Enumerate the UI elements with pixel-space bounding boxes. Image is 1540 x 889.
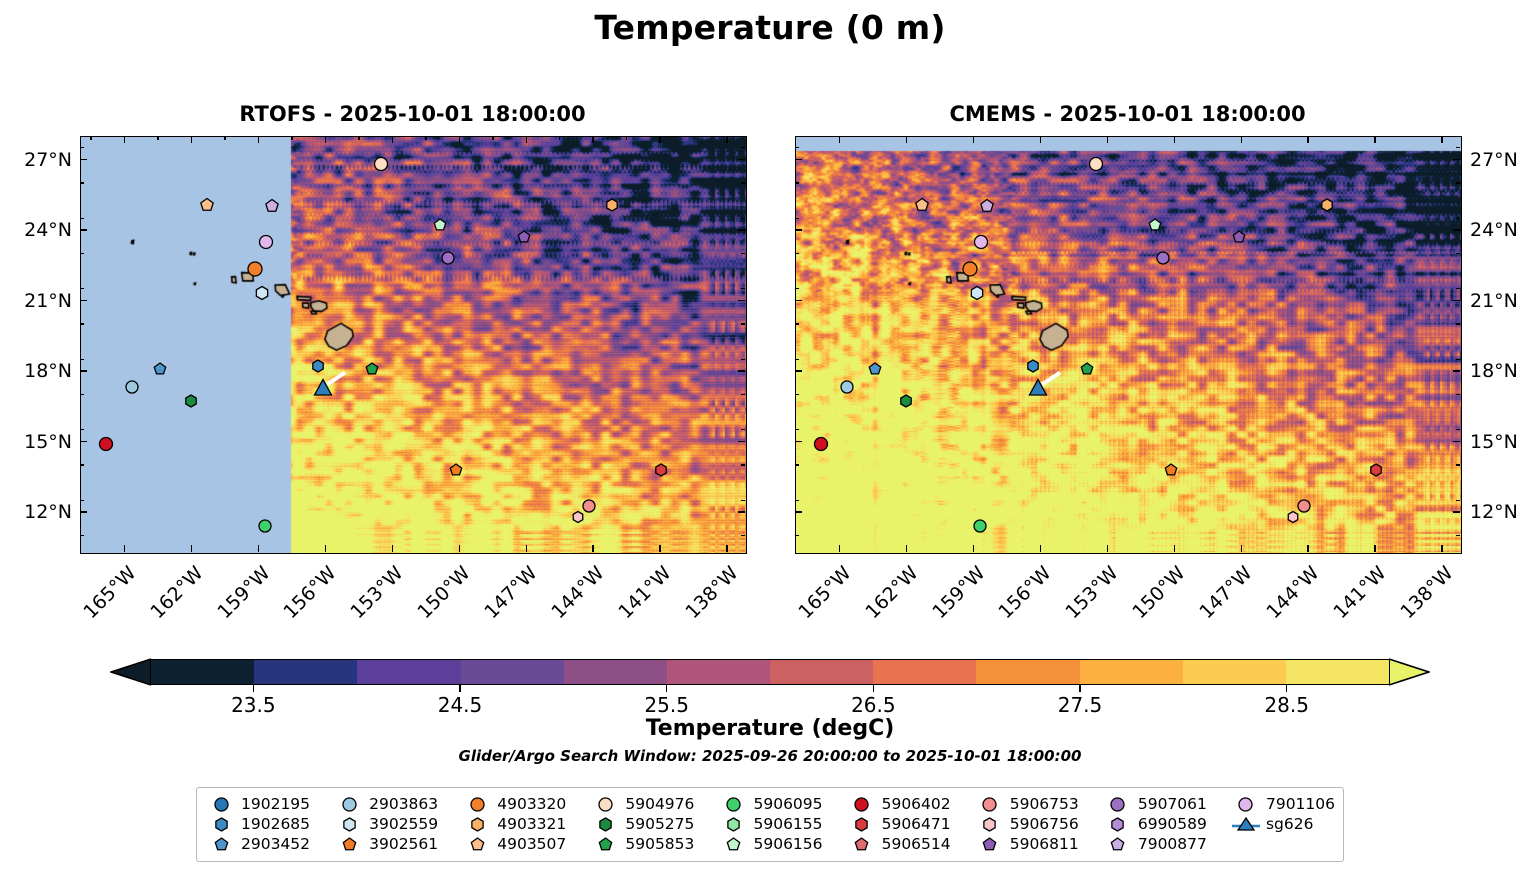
x-axis-minor-tick [492, 136, 493, 140]
y-axis-minor-tick [1456, 147, 1460, 148]
y-axis-minor-tick [741, 394, 745, 395]
legend-marker-icon [717, 834, 749, 854]
x-axis-tick [592, 545, 594, 552]
colorbar-title: Temperature (degC) [0, 716, 1540, 741]
x-axis-tick [1374, 136, 1376, 143]
x-axis-label: 156°W [275, 562, 341, 628]
legend-item-5906156[interactable]: 5906156 [717, 834, 845, 854]
y-axis-minor-tick [80, 253, 84, 254]
colorbar-tick-label: 23.5 [231, 693, 276, 717]
x-axis-label: 153°W [341, 562, 407, 628]
colorbar-band [151, 660, 254, 684]
y-axis-minor-tick [741, 288, 745, 289]
y-axis-minor-tick [80, 500, 84, 501]
x-axis-tick [392, 545, 394, 552]
y-axis-tick [1453, 300, 1460, 302]
legend-item-2903863[interactable]: 2903863 [333, 794, 461, 814]
y-axis-label: 21°N [1470, 290, 1518, 312]
y-axis-minor-tick [741, 218, 745, 219]
x-axis-tick [1441, 136, 1443, 143]
x-axis-label: 138°W [1391, 562, 1457, 628]
colorbar-tick [1286, 685, 1287, 692]
legend-label: 4903321 [493, 815, 566, 833]
legend-item-5907061[interactable]: 5907061 [1102, 794, 1230, 814]
y-axis-tick [738, 511, 745, 513]
legend-item-7900877[interactable]: 7900877 [1102, 834, 1230, 854]
x-axis-tick [659, 545, 661, 552]
x-axis-tick [1107, 136, 1109, 143]
y-axis-minor-tick [1456, 182, 1460, 183]
x-axis-minor-tick [459, 136, 460, 140]
x-axis-minor-tick [124, 136, 125, 140]
colorbar-tick-label: 26.5 [851, 693, 896, 717]
y-axis-tick [80, 511, 87, 513]
legend-item-3902561[interactable]: 3902561 [333, 834, 461, 854]
x-axis-label: 144°W [542, 562, 608, 628]
x-axis-tick [726, 545, 728, 552]
x-axis-tick [906, 136, 908, 143]
x-axis-minor-tick [392, 136, 393, 140]
colorbar-band [254, 660, 357, 684]
legend-label: 7900877 [1134, 835, 1207, 853]
page-title: Temperature (0 m) [0, 8, 1540, 47]
x-axis-label: 150°W [408, 562, 474, 628]
legend-item-5906756[interactable]: 5906756 [974, 814, 1102, 834]
legend-label: 5905275 [621, 815, 694, 833]
legend-item-5906155[interactable]: 5906155 [717, 814, 845, 834]
y-axis-label: 18°N [4, 360, 72, 382]
legend-item-5906095[interactable]: 5906095 [717, 794, 845, 814]
y-axis-label: 15°N [4, 431, 72, 453]
y-axis-tick [80, 441, 87, 443]
x-axis-minor-tick [660, 136, 661, 140]
legend-marker-icon [461, 794, 493, 814]
y-axis-minor-tick [795, 464, 799, 465]
y-axis-minor-tick [1456, 429, 1460, 430]
legend-label: 2903863 [365, 795, 438, 813]
legend-marker-icon [1102, 794, 1134, 814]
legend-label: 5906756 [1006, 815, 1079, 833]
colorbar-band [1080, 660, 1183, 684]
x-axis-minor-tick [291, 136, 292, 140]
legend-label: 2903452 [237, 835, 310, 853]
y-axis-tick [1453, 159, 1460, 161]
y-axis-minor-tick [795, 288, 799, 289]
y-axis-minor-tick [1456, 464, 1460, 465]
legend-label: 5906155 [749, 815, 822, 833]
colorbar: 23.524.525.526.527.528.5 [110, 659, 1430, 685]
legend-marker-icon [974, 814, 1006, 834]
x-axis-tick [839, 545, 841, 552]
y-axis-label: 12°N [1470, 501, 1518, 523]
legend-item-4903320[interactable]: 4903320 [461, 794, 589, 814]
x-axis-label: 138°W [676, 562, 742, 628]
legend-label: 5906514 [878, 835, 951, 853]
y-axis-minor-tick [80, 288, 84, 289]
legend-label: 6990589 [1134, 815, 1207, 833]
legend-item-1902195[interactable]: 1902195 [205, 794, 333, 814]
y-axis-minor-tick [795, 394, 799, 395]
legend-label: 5907061 [1134, 795, 1207, 813]
x-axis-tick [726, 136, 728, 143]
y-axis-tick [795, 370, 802, 372]
y-axis-minor-tick [741, 182, 745, 183]
panel-title-cmems: CMEMS - 2025-10-01 18:00:00 [795, 102, 1460, 126]
y-axis-tick [738, 441, 745, 443]
legend-marker-icon [333, 834, 365, 854]
legend-marker-icon [846, 794, 878, 814]
y-axis-minor-tick [795, 323, 799, 324]
legend-item-5906811[interactable]: 5906811 [974, 834, 1102, 854]
y-axis-minor-tick [1456, 288, 1460, 289]
x-axis-minor-tick [258, 136, 259, 140]
y-axis-minor-tick [741, 147, 745, 148]
x-axis-tick [1441, 545, 1443, 552]
x-axis-tick [973, 136, 975, 143]
y-axis-minor-tick [1456, 500, 1460, 501]
y-axis-label: 24°N [4, 219, 72, 241]
legend-marker-icon [717, 794, 749, 814]
legend-marker-icon [974, 834, 1006, 854]
colorbar-tick [1079, 685, 1080, 692]
y-axis-minor-tick [795, 182, 799, 183]
y-axis-tick [795, 300, 802, 302]
x-axis-label: 159°W [208, 562, 274, 628]
colorbar-tick-label: 28.5 [1264, 693, 1309, 717]
y-axis-minor-tick [1456, 218, 1460, 219]
y-axis-label: 18°N [1470, 360, 1518, 382]
x-axis-tick [1040, 545, 1042, 552]
legend-marker-icon [461, 834, 493, 854]
y-axis-minor-tick [80, 147, 84, 148]
x-axis-label: 153°W [1056, 562, 1122, 628]
legend-item-5906402[interactable]: 5906402 [846, 794, 974, 814]
y-axis-minor-tick [1456, 359, 1460, 360]
legend-marker-icon [717, 814, 749, 834]
x-axis-minor-tick [626, 136, 627, 140]
y-axis-minor-tick [795, 359, 799, 360]
y-axis-tick [1453, 370, 1460, 372]
colorbar-band [1183, 660, 1286, 684]
y-axis-tick [738, 229, 745, 231]
colorbar-band [564, 660, 667, 684]
y-axis-minor-tick [741, 253, 745, 254]
x-axis-minor-tick [593, 136, 594, 140]
x-axis-tick [1174, 545, 1176, 552]
x-axis-minor-tick [559, 136, 560, 140]
legend-label: 5906095 [749, 795, 822, 813]
y-axis-minor-tick [795, 500, 799, 501]
x-axis-minor-tick [526, 136, 527, 140]
legend-label: 4903320 [493, 795, 566, 813]
legend-item-sg626[interactable]: sg626 [1230, 814, 1335, 834]
panel-title-rtofs: RTOFS - 2025-10-01 18:00:00 [80, 102, 745, 126]
legend-label: 4903507 [493, 835, 566, 853]
colorbar-band [770, 660, 873, 684]
legend-label: 3902561 [365, 835, 438, 853]
legend-label: 5906402 [878, 795, 951, 813]
y-axis-minor-tick [1456, 323, 1460, 324]
y-axis-tick [738, 159, 745, 161]
glider-marker-sg626[interactable] [1028, 378, 1049, 399]
x-axis-tick [526, 545, 528, 552]
y-axis-minor-tick [80, 535, 84, 536]
y-axis-minor-tick [1456, 253, 1460, 254]
legend-label: 1902195 [237, 795, 310, 813]
y-axis-tick [795, 441, 802, 443]
colorbar-tick-label: 24.5 [438, 693, 483, 717]
x-axis-label: 165°W [74, 562, 140, 628]
y-axis-minor-tick [741, 323, 745, 324]
y-axis-label: 12°N [4, 501, 72, 523]
y-axis-tick [1453, 511, 1460, 513]
x-axis-minor-tick [325, 136, 326, 140]
y-axis-minor-tick [741, 535, 745, 536]
y-axis-minor-tick [1456, 394, 1460, 395]
y-axis-tick [80, 229, 87, 231]
legend-item-5906471[interactable]: 5906471 [846, 814, 974, 834]
map-panel-rtofs[interactable] [80, 136, 747, 554]
y-axis-label: 15°N [1470, 431, 1518, 453]
x-axis-minor-tick [191, 136, 192, 140]
legend-marker-icon [589, 814, 621, 834]
x-axis-label: 156°W [990, 562, 1056, 628]
y-axis-tick [795, 159, 802, 161]
y-axis-minor-tick [741, 359, 745, 360]
x-axis-tick [191, 545, 193, 552]
y-axis-label: 21°N [4, 290, 72, 312]
y-axis-tick [1453, 441, 1460, 443]
map-panel-cmems[interactable] [795, 136, 1462, 554]
y-axis-label: 27°N [4, 149, 72, 171]
y-axis-minor-tick [80, 218, 84, 219]
legend-item-2903452[interactable]: 2903452 [205, 834, 333, 854]
colorbar-band [873, 660, 976, 684]
legend-label: 5904976 [621, 795, 694, 813]
legend-label: 7901106 [1262, 795, 1335, 813]
legend-marker-icon [1102, 834, 1134, 854]
y-axis-tick [80, 159, 87, 161]
legend-marker-icon [461, 814, 493, 834]
legend-label: 3902559 [365, 815, 438, 833]
y-axis-tick [738, 300, 745, 302]
y-axis-tick [80, 370, 87, 372]
legend-label: 5906753 [1006, 795, 1079, 813]
y-axis-minor-tick [741, 500, 745, 501]
legend-item-7901106[interactable]: 7901106 [1230, 794, 1335, 814]
legend-marker-icon [846, 834, 878, 854]
legend-label: 5906471 [878, 815, 951, 833]
x-axis-tick [1241, 545, 1243, 552]
legend-item-3902559[interactable]: 3902559 [333, 814, 461, 834]
glider-track-sg626 [796, 137, 1461, 553]
legend-label: 5906156 [749, 835, 822, 853]
legend-marker-icon [205, 814, 237, 834]
y-axis-tick [795, 511, 802, 513]
search-window-text: Glider/Argo Search Window: 2025-09-26 20… [0, 747, 1540, 765]
colorbar-band [976, 660, 1079, 684]
y-axis-minor-tick [80, 429, 84, 430]
y-axis-tick [795, 229, 802, 231]
x-axis-minor-tick [425, 136, 426, 140]
x-axis-label: 141°W [609, 562, 675, 628]
y-axis-minor-tick [741, 429, 745, 430]
x-axis-tick [325, 545, 327, 552]
glider-track-sg626 [81, 137, 746, 553]
x-axis-tick [258, 545, 260, 552]
legend-item-5906753[interactable]: 5906753 [974, 794, 1102, 814]
y-axis-label: 27°N [1470, 149, 1518, 171]
legend-marker-icon [333, 794, 365, 814]
colorbar-under-arrow [110, 659, 150, 685]
legend-item-5905275[interactable]: 5905275 [589, 814, 717, 834]
y-axis-minor-tick [741, 464, 745, 465]
colorbar-band [357, 660, 460, 684]
y-axis-tick [1453, 229, 1460, 231]
legend-item-6990589[interactable]: 6990589 [1102, 814, 1230, 834]
x-axis-tick [839, 136, 841, 143]
x-axis-minor-tick [224, 136, 225, 140]
x-axis-tick [906, 545, 908, 552]
glider-marker-sg626[interactable] [313, 378, 334, 399]
x-axis-label: 144°W [1257, 562, 1323, 628]
legend-marker-icon [1230, 794, 1262, 814]
x-axis-minor-tick [358, 136, 359, 140]
y-axis-minor-tick [795, 218, 799, 219]
x-axis-minor-tick [157, 136, 158, 140]
legend-label: 5905853 [621, 835, 694, 853]
legend-item-5906514[interactable]: 5906514 [846, 834, 974, 854]
legend-marker-icon [1102, 814, 1134, 834]
colorbar-tick [666, 685, 667, 692]
legend-item-5904976[interactable]: 5904976 [589, 794, 717, 814]
y-axis-minor-tick [80, 464, 84, 465]
y-axis-tick [738, 370, 745, 372]
legend-label: 5906811 [1006, 835, 1079, 853]
y-axis-minor-tick [80, 394, 84, 395]
x-axis-tick [1174, 136, 1176, 143]
legend-item-5905853[interactable]: 5905853 [589, 834, 717, 854]
colorbar-band [461, 660, 564, 684]
x-axis-tick [124, 545, 126, 552]
y-axis-tick [80, 300, 87, 302]
legend-item-1902685[interactable]: 1902685 [205, 814, 333, 834]
x-axis-label: 147°W [475, 562, 541, 628]
x-axis-tick [459, 545, 461, 552]
legend-label: sg626 [1262, 815, 1314, 833]
colorbar-tick-label: 27.5 [1058, 693, 1103, 717]
x-axis-label: 150°W [1123, 562, 1189, 628]
legend-marker-icon [1230, 814, 1262, 834]
x-axis-label: 147°W [1190, 562, 1256, 628]
x-axis-tick [1307, 545, 1309, 552]
y-axis-minor-tick [80, 182, 84, 183]
x-axis-label: 141°W [1324, 562, 1390, 628]
legend-item-4903507[interactable]: 4903507 [461, 834, 589, 854]
x-axis-tick [973, 545, 975, 552]
colorbar-over-arrow [1390, 659, 1430, 685]
colorbar-tick [873, 685, 874, 692]
x-axis-tick [1040, 136, 1042, 143]
legend-label: 1902685 [237, 815, 310, 833]
legend-marker-icon [974, 794, 1006, 814]
colorbar-gradient [150, 659, 1390, 685]
legend-marker-icon [333, 814, 365, 834]
colorbar-tick [253, 685, 254, 692]
legend-marker-icon [205, 794, 237, 814]
y-axis-label: 24°N [1470, 219, 1518, 241]
legend-marker-icon [589, 834, 621, 854]
x-axis-label: 162°W [856, 562, 922, 628]
colorbar-tick-label: 25.5 [644, 693, 689, 717]
legend-marker-icon [846, 814, 878, 834]
x-axis-tick [1374, 545, 1376, 552]
colorbar-band [667, 660, 770, 684]
legend-marker-icon [205, 834, 237, 854]
x-axis-label: 162°W [141, 562, 207, 628]
x-axis-tick [1107, 545, 1109, 552]
y-axis-minor-tick [795, 147, 799, 148]
y-axis-minor-tick [795, 429, 799, 430]
y-axis-minor-tick [80, 323, 84, 324]
colorbar-band [1286, 660, 1389, 684]
x-axis-tick [1241, 136, 1243, 143]
y-axis-minor-tick [795, 535, 799, 536]
x-axis-label: 165°W [789, 562, 855, 628]
legend: 1902195190268529034522903863390255939025… [196, 787, 1344, 862]
y-axis-minor-tick [795, 253, 799, 254]
colorbar-tick [459, 685, 460, 692]
legend-marker-icon [589, 794, 621, 814]
x-axis-minor-tick [90, 136, 91, 140]
x-axis-tick [1307, 136, 1309, 143]
legend-item-4903321[interactable]: 4903321 [461, 814, 589, 834]
y-axis-minor-tick [80, 359, 84, 360]
y-axis-minor-tick [1456, 535, 1460, 536]
x-axis-label: 159°W [923, 562, 989, 628]
